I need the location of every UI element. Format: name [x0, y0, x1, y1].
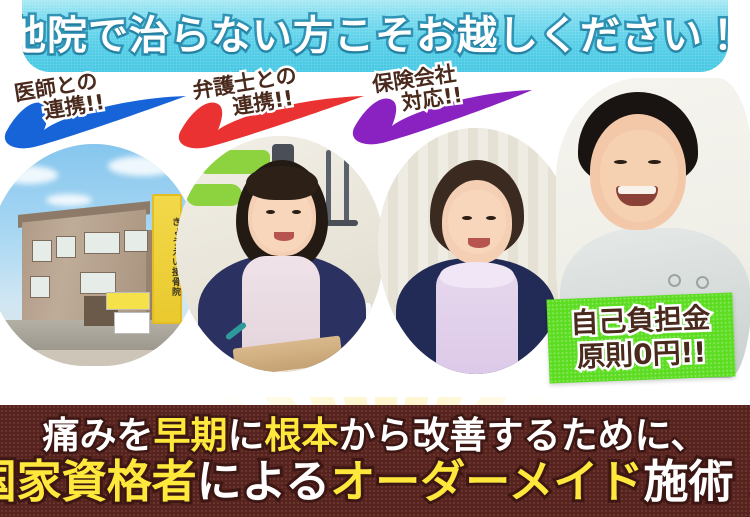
bottom-message-banner: 痛みを早期に根本から改善するために、 国家資格者によるオーダーメイド施術！: [0, 405, 750, 517]
badge-insurance: 保険会社 対応!!: [352, 62, 536, 148]
window-shape: [80, 272, 116, 294]
practitioner-eye: [614, 160, 627, 164]
photo-clinic-exterior: きょうえい接骨院: [0, 144, 200, 366]
cloud-shape: [46, 194, 92, 206]
cloud-shape: [108, 156, 178, 176]
zero-payment-line1: 自己負担金: [570, 301, 711, 340]
bottom-message-line1: 痛みを早期に根本から改善するために、: [43, 417, 708, 456]
practitioner-eye: [648, 160, 661, 164]
badge-lawyer: 弁護士との 連携!!: [178, 68, 368, 150]
info-board: [114, 312, 150, 334]
patient-eye: [462, 216, 472, 220]
patient-collar: [440, 262, 514, 288]
zero-payment-badge: 自己負担金 原則0円!!: [546, 292, 735, 383]
bottom-line1-seg: に: [228, 414, 265, 457]
bottom-message-line2: 国家資格者によるオーダーメイド施術！: [0, 458, 750, 505]
window-shape: [30, 276, 50, 298]
staff-eye: [292, 210, 301, 214]
clinic-promo-banner: 他院で治らない方こそお越しください！ きょうえい接骨院: [0, 0, 750, 517]
bottom-line2-seg: による: [197, 455, 331, 508]
cloud-shape: [0, 166, 58, 184]
bottom-line2-seg-highlight: オーダーメイド: [330, 455, 643, 508]
staff-fringe: [246, 166, 318, 200]
uniform-button: [668, 274, 681, 287]
patient-mouth: [468, 238, 490, 248]
bottom-line2-seg: 施術！: [643, 455, 750, 508]
equipment-green-roller: [186, 184, 242, 206]
photo-staff-clipboard: [176, 136, 384, 372]
practitioner-teeth: [618, 186, 656, 194]
staff-mouth: [274, 232, 294, 241]
window-shape: [84, 232, 120, 254]
patient-eye: [486, 216, 496, 220]
window-shape: [32, 240, 52, 262]
zero-payment-line2: 原則0円!!: [577, 336, 707, 375]
bottom-line1-seg: 痛みを: [43, 414, 154, 457]
window-shape: [124, 230, 148, 252]
bottom-line1-seg: から改善するために、: [339, 414, 708, 457]
photo-patient-woman: [378, 128, 574, 374]
staff-eye: [266, 210, 275, 214]
bottom-line1-seg-highlight: 早期: [154, 414, 228, 457]
practitioner-face: [600, 130, 678, 222]
uniform-button: [696, 276, 709, 289]
badge-doctor: 医師との 連携!!: [4, 70, 190, 150]
bottom-line1-seg-highlight: 根本: [265, 414, 339, 457]
bottom-line2-seg-highlight: 国家資格者: [0, 455, 197, 508]
window-shape: [56, 236, 76, 258]
equipment-rod: [344, 158, 349, 226]
zero-payment-text: 自己負担金 原則0円!!: [546, 292, 735, 383]
bottom-message-inner: 痛みを早期に根本から改善するために、 国家資格者によるオーダーメイド施術！: [0, 405, 750, 517]
entrance-sign: [106, 292, 150, 310]
